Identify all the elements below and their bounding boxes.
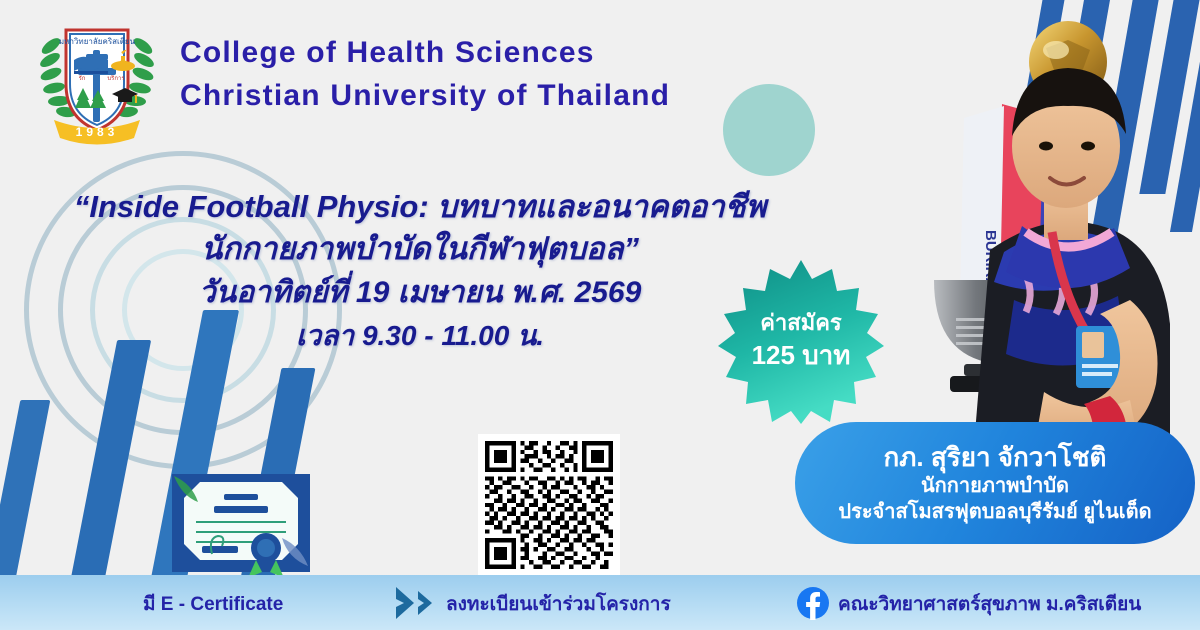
speaker-name: กภ. สุริยา จักวาโชติ: [884, 441, 1107, 474]
fee-label-text: ค่าสมัคร: [760, 309, 842, 338]
registration-label[interactable]: ลงทะเบียนเข้าร่วมโครงการ: [446, 589, 671, 619]
registration-qr-code[interactable]: [478, 434, 620, 576]
facebook-page-name[interactable]: คณะวิทยาศาสตร์สุขภาพ ม.คริสเตียน: [838, 589, 1141, 619]
e-certificate-label: มี E - Certificate: [143, 589, 283, 619]
fee-amount-text: 125 บาท: [752, 339, 851, 373]
event-poster: BURIRAM UNITED: [0, 0, 1200, 630]
mint-circle-decoration: [723, 84, 815, 176]
footer-bar: มี E - Certificate ลงทะเบียนเข้าร่วมโครง…: [0, 575, 1200, 630]
organization-header: College of Health Sciences Christian Uni…: [180, 32, 670, 117]
speaker-club: ประจำสโมสรฟุตบอลบุรีรัมย์ ยูไนเต็ด: [838, 499, 1151, 525]
event-date: วันอาทิตย์ที่ 19 เมษายน พ.ศ. 2569: [70, 270, 770, 315]
svg-text:1983: 1983: [76, 125, 119, 139]
university-crest-logo: มหาวิทยาลัยคริสเตียน: [26, 8, 168, 150]
svg-text:รัก: รัก: [79, 75, 86, 82]
certificate-icon: [168, 470, 314, 580]
event-time: เวลา 9.30 - 11.00 น.: [70, 315, 770, 358]
svg-text:มหาวิทยาลัยคริสเตียน: มหาวิทยาลัยคริสเตียน: [59, 37, 136, 46]
header-line-1: College of Health Sciences: [180, 32, 670, 75]
speaker-role: นักกายภาพบำบัด: [921, 473, 1069, 499]
event-title-block: “Inside Football Physio: บทบาทและอนาคตอา…: [70, 186, 770, 358]
facebook-icon[interactable]: [796, 586, 830, 620]
speaker-info-panel: กภ. สุริยา จักวาโชติ นักกายภาพบำบัด ประจ…: [795, 422, 1195, 544]
header-line-2: Christian University of Thailand: [180, 75, 670, 118]
title-line-1: “Inside Football Physio: บทบาทและอนาคตอา…: [70, 186, 770, 228]
speaker-photo: BURIRAM UNITED: [894, 0, 1200, 470]
svg-text:บริการ: บริการ: [107, 75, 125, 82]
chevron-right-icon: [392, 585, 448, 621]
fee-badge-label: ค่าสมัคร 125 บาท: [718, 258, 884, 424]
registration-fee-badge: ค่าสมัคร 125 บาท: [718, 258, 884, 424]
title-line-2: นักกายภาพบำบัดในกีฬาฟุตบอล”: [70, 228, 770, 271]
